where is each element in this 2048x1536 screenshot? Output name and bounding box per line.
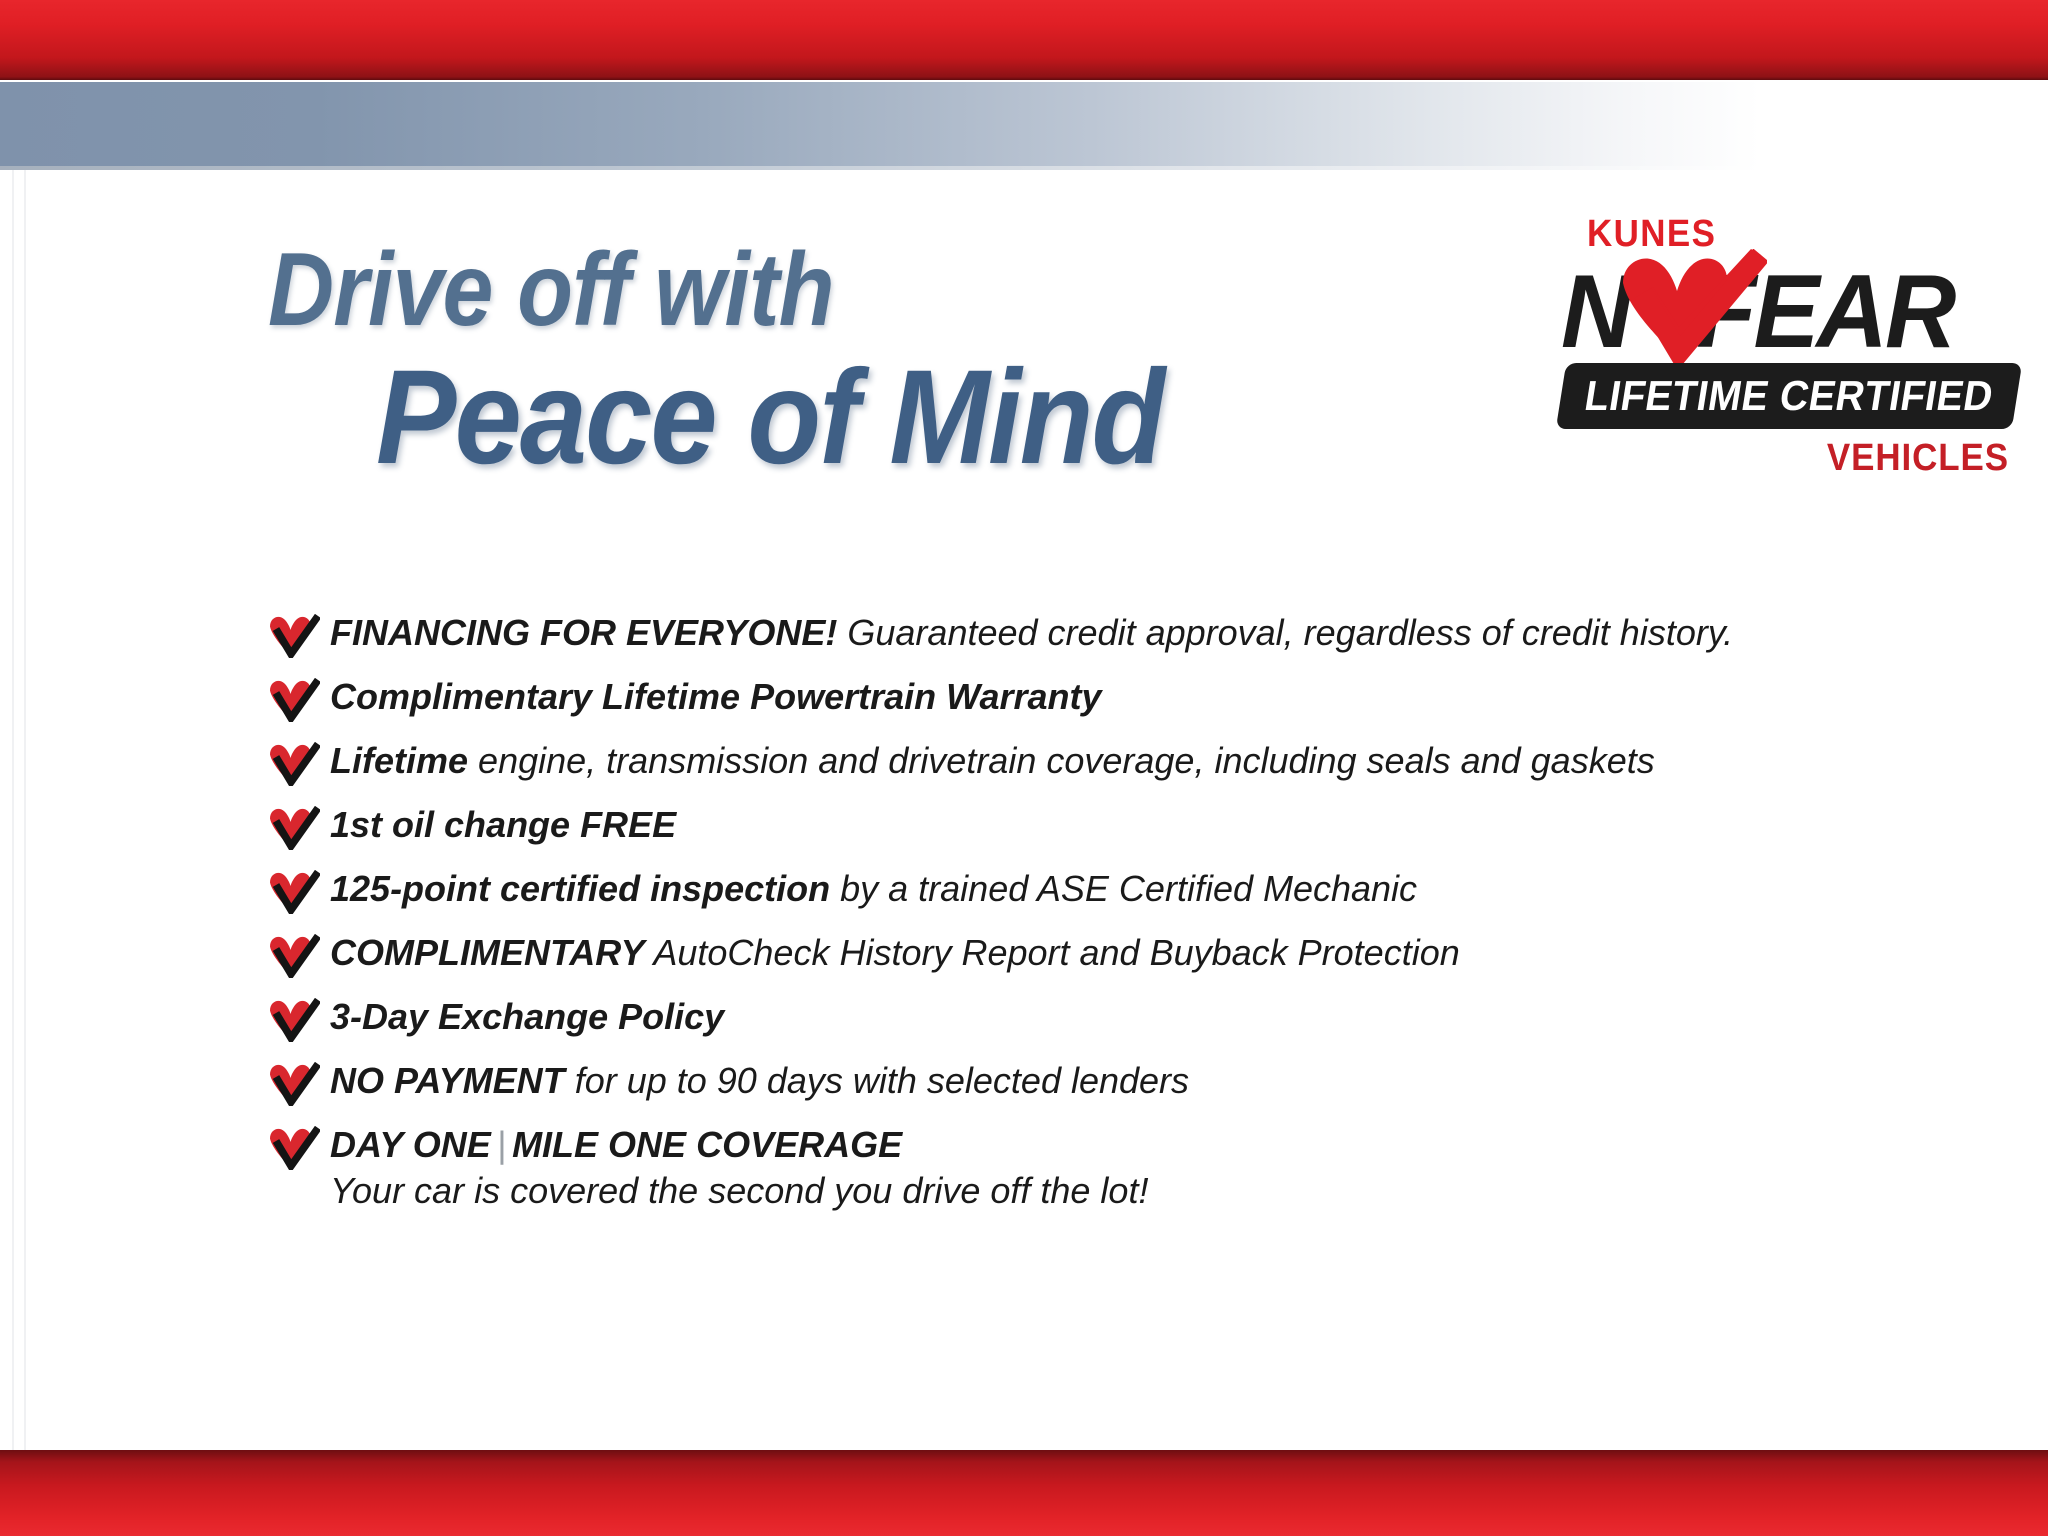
card-edge-line-outer	[12, 170, 14, 1450]
heart-check-icon	[268, 934, 320, 978]
list-item: 125-point certified inspection by a trai…	[268, 868, 1828, 922]
list-item: FINANCING FOR EVERYONE! Guaranteed credi…	[268, 612, 1828, 666]
list-item-text: 1st oil change FREE	[330, 804, 1828, 846]
list-item-subline: Your car is covered the second you drive…	[330, 1170, 1828, 1212]
list-item-strong: 3-Day Exchange Policy	[330, 996, 724, 1037]
heart-check-icon	[268, 678, 320, 722]
list-item-strong: FINANCING FOR EVERYONE!	[330, 612, 837, 653]
list-item: NO PAYMENT for up to 90 days with select…	[268, 1060, 1828, 1114]
list-item-strong: 1st oil change FREE	[330, 804, 676, 845]
headline-line-2: Peace of Mind	[376, 352, 1377, 483]
list-item-regular: for up to 90 days with selected lenders	[575, 1060, 1189, 1101]
list-item: DAY ONE|MILE ONE COVERAGE Your car is co…	[268, 1124, 1828, 1212]
peace-of-mind-poster: Drive off with Peace of Mind KUNES NFEAR…	[0, 0, 2048, 1536]
list-item-strong: Complimentary Lifetime Powertrain Warran…	[330, 676, 1102, 717]
list-item: 1st oil change FREE	[268, 804, 1828, 858]
list-item: 3-Day Exchange Policy	[268, 996, 1828, 1050]
slate-gradient-band	[0, 82, 1760, 166]
list-item-strong: NO PAYMENT	[330, 1060, 565, 1101]
list-item-text: 3-Day Exchange Policy	[330, 996, 1828, 1038]
list-item: Lifetime engine, transmission and drivet…	[268, 740, 1828, 794]
card-edge-line-inner	[24, 170, 26, 1450]
heart-check-icon	[268, 614, 320, 658]
slate-band-hairline	[0, 166, 1760, 170]
heart-check-icon	[268, 870, 320, 914]
benefits-list: FINANCING FOR EVERYONE! Guaranteed credi…	[268, 612, 1828, 1222]
list-item-strong: 125-point certified inspection	[330, 868, 830, 909]
heart-check-icon	[268, 806, 320, 850]
list-item-strong: DAY ONE	[330, 1124, 491, 1165]
list-item-strong: Lifetime	[330, 740, 468, 781]
list-item-text: COMPLIMENTARY AutoCheck History Report a…	[330, 932, 1828, 974]
list-item-regular: engine, transmission and drivetrain cove…	[478, 740, 1655, 781]
page-title: Drive off with Peace of Mind	[268, 240, 1488, 483]
kunes-no-fear-logo: KUNES NFEAR LIFETIME CERTIFIED VEHICLES	[1545, 205, 2015, 490]
list-item-text: Lifetime engine, transmission and drivet…	[330, 740, 1828, 782]
heart-check-icon	[268, 1126, 320, 1170]
list-item-strong-2: MILE ONE COVERAGE	[512, 1124, 902, 1165]
list-item: Complimentary Lifetime Powertrain Warran…	[268, 676, 1828, 730]
heart-check-icon	[268, 742, 320, 786]
logo-footer-vehicles: VEHICLES	[1827, 437, 2009, 480]
list-item-text: Complimentary Lifetime Powertrain Warran…	[330, 676, 1828, 718]
logo-heart-check-icon	[1617, 249, 1767, 379]
list-item: COMPLIMENTARY AutoCheck History Report a…	[268, 932, 1828, 986]
heart-check-icon	[268, 998, 320, 1042]
list-item-text: 125-point certified inspection by a trai…	[330, 868, 1828, 910]
list-item-text: DAY ONE|MILE ONE COVERAGE	[330, 1124, 1828, 1166]
list-item-regular: AutoCheck History Report and Buyback Pro…	[653, 932, 1459, 973]
bottom-red-band	[0, 1450, 2048, 1536]
top-red-band	[0, 0, 2048, 80]
heart-check-icon	[268, 1062, 320, 1106]
logo-certified-label: LIFETIME CERTIFIED	[1569, 363, 2008, 429]
headline-line-1: Drive off with	[268, 240, 1342, 342]
list-item-text: FINANCING FOR EVERYONE! Guaranteed credi…	[330, 612, 1828, 654]
list-item-regular: Guaranteed credit approval, regardless o…	[847, 612, 1733, 653]
list-item-regular: by a trained ASE Certified Mechanic	[840, 868, 1417, 909]
list-item-strong: COMPLIMENTARY	[330, 932, 645, 973]
list-item-separator: |	[491, 1124, 512, 1165]
list-item-text: NO PAYMENT for up to 90 days with select…	[330, 1060, 1828, 1102]
